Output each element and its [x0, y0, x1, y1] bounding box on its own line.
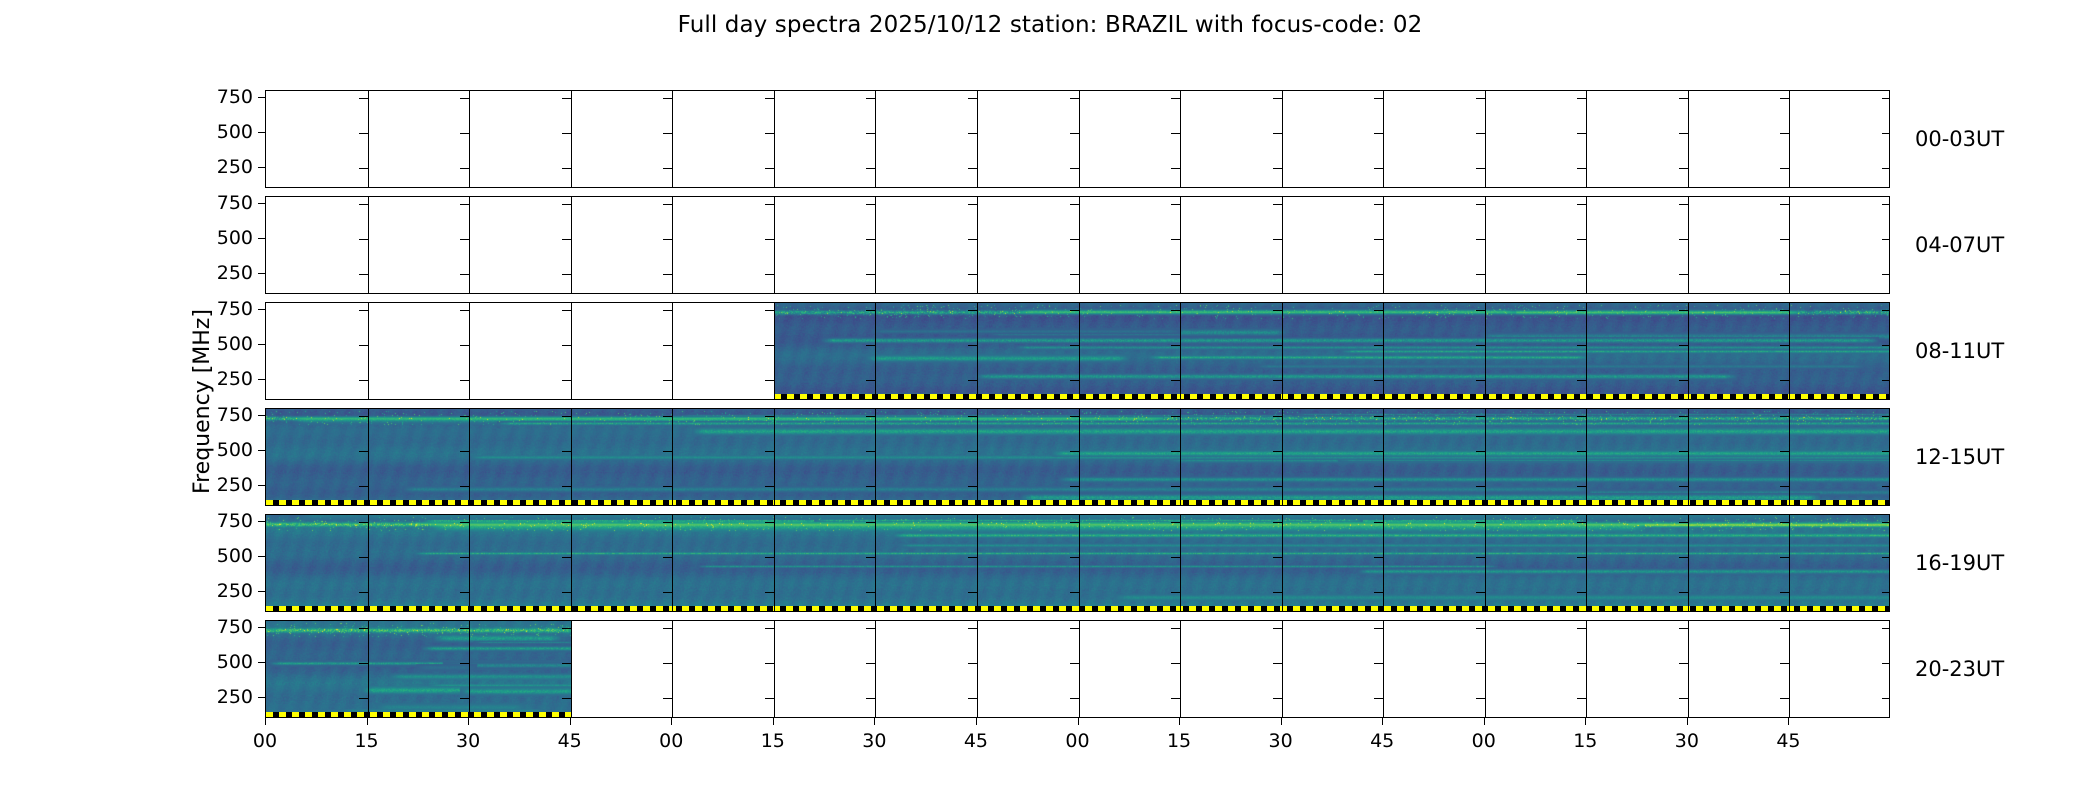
inner-y-tick: [460, 451, 469, 452]
inner-y-tick: [562, 557, 571, 558]
inner-y-tick: [460, 698, 469, 699]
inner-y-tick: [562, 628, 571, 629]
cell-separator: [571, 409, 572, 505]
inner-y-tick: [765, 274, 774, 275]
y-tick-mark: [258, 556, 265, 557]
inner-y-tick: [1780, 663, 1789, 664]
cell-separator: [1180, 303, 1181, 399]
inner-y-tick: [562, 310, 571, 311]
y-tick-mark: [258, 379, 265, 380]
y-tick-label: 250: [183, 158, 253, 177]
cell-separator: [1383, 515, 1384, 611]
inner-y-tick: [1273, 557, 1282, 558]
inner-y-tick: [359, 522, 368, 523]
inner-y-tick: [1171, 416, 1180, 417]
inner-y-tick: [1780, 133, 1789, 134]
inner-y-tick: [968, 380, 977, 381]
inner-y-tick: [460, 345, 469, 346]
inner-y-tick: [1171, 698, 1180, 699]
inner-y-tick: [460, 239, 469, 240]
inner-y-tick: [968, 557, 977, 558]
inner-y-tick: [460, 592, 469, 593]
cell-separator: [368, 197, 369, 293]
cell-separator: [1282, 303, 1283, 399]
inner-y-tick: [663, 98, 672, 99]
inner-y-tick: [460, 557, 469, 558]
inner-y-tick: [1577, 451, 1586, 452]
spectrogram-image: [266, 621, 571, 718]
cell-separator: [1688, 515, 1689, 611]
inner-y-tick: [1374, 98, 1383, 99]
inner-y-tick: [663, 345, 672, 346]
inner-y-tick: [460, 133, 469, 134]
cell-separator: [672, 303, 673, 399]
cell-separator: [1079, 409, 1080, 505]
inner-y-tick: [968, 274, 977, 275]
inner-y-tick: [765, 133, 774, 134]
inner-y-tick: [1374, 239, 1383, 240]
x-tick-mark: [1585, 718, 1586, 725]
cell-separator: [875, 91, 876, 187]
inner-y-tick: [562, 133, 571, 134]
inner-y-tick: [1679, 274, 1688, 275]
inner-y-tick: [866, 133, 875, 134]
spectrogram-image: [266, 515, 1890, 612]
inner-y-tick: [1882, 557, 1890, 558]
inner-y-tick: [1780, 345, 1789, 346]
x-tick-mark: [976, 718, 977, 725]
cell-separator: [672, 91, 673, 187]
cell-separator: [571, 515, 572, 611]
inner-y-tick: [1577, 168, 1586, 169]
inner-y-tick: [663, 133, 672, 134]
inner-y-tick: [1577, 380, 1586, 381]
cell-separator: [1079, 197, 1080, 293]
cell-separator: [1383, 197, 1384, 293]
inner-y-tick: [1374, 698, 1383, 699]
subplot-row-08-11ut: [265, 302, 1890, 400]
inner-y-tick: [562, 698, 571, 699]
inner-y-tick: [1070, 204, 1079, 205]
inner-y-tick: [1171, 345, 1180, 346]
cell-separator: [875, 621, 876, 717]
inner-y-tick: [1679, 628, 1688, 629]
inner-y-tick: [1577, 310, 1586, 311]
inner-y-tick: [866, 416, 875, 417]
inner-y-tick: [765, 451, 774, 452]
inner-y-tick: [1780, 522, 1789, 523]
inner-y-tick: [1679, 486, 1688, 487]
inner-y-tick: [562, 168, 571, 169]
subplot-frame: [265, 408, 1890, 506]
inner-y-tick: [359, 451, 368, 452]
inner-y-tick: [1476, 628, 1485, 629]
y-tick-mark: [258, 97, 265, 98]
cell-separator: [571, 91, 572, 187]
inner-y-tick: [968, 698, 977, 699]
x-tick-label: 15: [1149, 730, 1209, 752]
inner-y-tick: [1780, 98, 1789, 99]
inner-y-tick: [1476, 416, 1485, 417]
inner-y-tick: [460, 522, 469, 523]
x-tick-label: 00: [1454, 730, 1514, 752]
inner-y-tick: [968, 239, 977, 240]
x-tick-mark: [874, 718, 875, 725]
inner-y-tick: [968, 663, 977, 664]
inner-y-tick: [1577, 204, 1586, 205]
cell-separator: [1485, 621, 1486, 717]
inner-y-tick: [1374, 133, 1383, 134]
inner-y-tick: [1882, 380, 1890, 381]
x-tick-label: 30: [438, 730, 498, 752]
subplot-row-16-19ut: [265, 514, 1890, 612]
subplot-row-12-15ut: [265, 408, 1890, 506]
inner-y-tick: [1273, 204, 1282, 205]
inner-y-tick: [765, 486, 774, 487]
data-coverage-marker: [266, 712, 571, 717]
inner-y-tick: [663, 274, 672, 275]
cell-separator: [1789, 91, 1790, 187]
inner-y-tick: [1476, 168, 1485, 169]
x-tick-mark: [671, 718, 672, 725]
inner-y-tick: [1476, 522, 1485, 523]
x-tick-label: 45: [946, 730, 1006, 752]
inner-y-tick: [359, 168, 368, 169]
inner-y-tick: [1476, 451, 1485, 452]
inner-y-tick: [765, 628, 774, 629]
y-tick-label: 250: [183, 370, 253, 389]
inner-y-tick: [968, 451, 977, 452]
x-tick-mark: [1687, 718, 1688, 725]
inner-y-tick: [1070, 310, 1079, 311]
inner-y-tick: [1577, 663, 1586, 664]
inner-y-tick: [1679, 204, 1688, 205]
inner-y-tick: [1374, 204, 1383, 205]
inner-y-tick: [1882, 98, 1890, 99]
inner-y-tick: [1882, 698, 1890, 699]
inner-y-tick: [1780, 168, 1789, 169]
cell-separator: [1282, 515, 1283, 611]
inner-y-tick: [1577, 522, 1586, 523]
inner-y-tick: [1679, 522, 1688, 523]
inner-y-tick: [1882, 522, 1890, 523]
inner-y-tick: [1273, 451, 1282, 452]
inner-y-tick: [1374, 274, 1383, 275]
inner-y-tick: [1476, 133, 1485, 134]
inner-y-tick: [1577, 239, 1586, 240]
y-tick-mark: [258, 521, 265, 522]
inner-y-tick: [765, 310, 774, 311]
inner-y-tick: [765, 592, 774, 593]
cell-separator: [1789, 197, 1790, 293]
cell-separator: [672, 197, 673, 293]
inner-y-tick: [359, 486, 368, 487]
cell-separator: [774, 621, 775, 717]
inner-y-tick: [866, 274, 875, 275]
x-tick-mark: [1788, 718, 1789, 725]
y-tick-label: 500: [183, 335, 253, 354]
inner-y-tick: [1374, 310, 1383, 311]
inner-y-tick: [968, 204, 977, 205]
y-tick-label: 750: [183, 618, 253, 637]
cell-separator: [977, 91, 978, 187]
inner-y-tick: [1273, 628, 1282, 629]
x-tick-label: 30: [844, 730, 904, 752]
cell-separator: [1688, 303, 1689, 399]
inner-y-tick: [866, 451, 875, 452]
inner-y-tick: [562, 663, 571, 664]
inner-y-tick: [1273, 522, 1282, 523]
inner-y-tick: [968, 522, 977, 523]
inner-y-tick: [1882, 239, 1890, 240]
subplot-frame: [265, 302, 1890, 400]
x-tick-mark: [773, 718, 774, 725]
cell-separator: [977, 197, 978, 293]
x-tick-mark: [1179, 718, 1180, 725]
x-tick-label: 00: [641, 730, 701, 752]
inner-y-tick: [1679, 345, 1688, 346]
inner-y-tick: [663, 451, 672, 452]
inner-y-tick: [866, 380, 875, 381]
inner-y-tick: [1882, 345, 1890, 346]
cell-separator: [469, 91, 470, 187]
x-tick-mark: [1281, 718, 1282, 725]
inner-y-tick: [866, 345, 875, 346]
inner-y-tick: [765, 416, 774, 417]
cell-separator: [1180, 409, 1181, 505]
cell-separator: [368, 91, 369, 187]
inner-y-tick: [1882, 663, 1890, 664]
subplot-frame: [265, 620, 1890, 718]
cell-separator: [1789, 515, 1790, 611]
cell-separator: [875, 197, 876, 293]
data-coverage-marker: [774, 394, 1890, 399]
y-tick-mark: [258, 167, 265, 168]
inner-y-tick: [1679, 239, 1688, 240]
inner-y-tick: [765, 98, 774, 99]
y-tick-label: 750: [183, 300, 253, 319]
x-tick-label: 00: [1048, 730, 1108, 752]
inner-y-tick: [1070, 557, 1079, 558]
y-tick-mark: [258, 662, 265, 663]
inner-y-tick: [1679, 416, 1688, 417]
cell-separator: [1789, 621, 1790, 717]
inner-y-tick: [765, 345, 774, 346]
inner-y-tick: [1882, 592, 1890, 593]
inner-y-tick: [460, 204, 469, 205]
inner-y-tick: [460, 168, 469, 169]
y-tick-label: 500: [183, 123, 253, 142]
inner-y-tick: [1171, 204, 1180, 205]
inner-y-tick: [359, 345, 368, 346]
y-tick-label: 750: [183, 88, 253, 107]
x-tick-label: 45: [1352, 730, 1412, 752]
y-tick-mark: [258, 273, 265, 274]
cell-separator: [875, 515, 876, 611]
inner-y-tick: [1171, 557, 1180, 558]
inner-y-tick: [562, 239, 571, 240]
inner-y-tick: [1679, 592, 1688, 593]
inner-y-tick: [1070, 522, 1079, 523]
inner-y-tick: [765, 204, 774, 205]
y-tick-label: 500: [183, 653, 253, 672]
y-tick-mark: [258, 591, 265, 592]
inner-y-tick: [765, 698, 774, 699]
cell-separator: [977, 515, 978, 611]
cell-separator: [1789, 303, 1790, 399]
y-tick-label: 500: [183, 441, 253, 460]
inner-y-tick: [1070, 168, 1079, 169]
inner-y-tick: [663, 698, 672, 699]
inner-y-tick: [866, 522, 875, 523]
inner-y-tick: [1577, 274, 1586, 275]
inner-y-tick: [866, 239, 875, 240]
inner-y-tick: [1374, 663, 1383, 664]
inner-y-tick: [359, 133, 368, 134]
inner-y-tick: [1273, 698, 1282, 699]
y-tick-mark: [258, 238, 265, 239]
inner-y-tick: [1780, 451, 1789, 452]
y-tick-mark: [258, 309, 265, 310]
inner-y-tick: [1070, 274, 1079, 275]
cell-separator: [1079, 303, 1080, 399]
inner-y-tick: [1273, 345, 1282, 346]
inner-y-tick: [460, 310, 469, 311]
cell-separator: [469, 197, 470, 293]
cell-separator: [571, 303, 572, 399]
inner-y-tick: [1476, 98, 1485, 99]
inner-y-tick: [968, 345, 977, 346]
inner-y-tick: [1882, 133, 1890, 134]
inner-y-tick: [1577, 345, 1586, 346]
inner-y-tick: [1577, 486, 1586, 487]
y-tick-mark: [258, 627, 265, 628]
inner-y-tick: [1273, 663, 1282, 664]
inner-y-tick: [359, 204, 368, 205]
inner-y-tick: [1070, 98, 1079, 99]
inner-y-tick: [359, 557, 368, 558]
inner-y-tick: [1070, 239, 1079, 240]
cell-separator: [1586, 409, 1587, 505]
inner-y-tick: [1171, 451, 1180, 452]
inner-y-tick: [866, 592, 875, 593]
inner-y-tick: [968, 133, 977, 134]
cell-separator: [1180, 91, 1181, 187]
inner-y-tick: [359, 416, 368, 417]
inner-y-tick: [1374, 522, 1383, 523]
y-tick-mark: [258, 697, 265, 698]
cell-separator: [672, 515, 673, 611]
inner-y-tick: [663, 557, 672, 558]
cell-separator: [1688, 91, 1689, 187]
inner-y-tick: [359, 310, 368, 311]
inner-y-tick: [765, 663, 774, 664]
inner-y-tick: [1679, 380, 1688, 381]
inner-y-tick: [765, 239, 774, 240]
inner-y-tick: [1374, 380, 1383, 381]
inner-y-tick: [460, 663, 469, 664]
cell-separator: [1586, 303, 1587, 399]
inner-y-tick: [1780, 310, 1789, 311]
x-tick-label: 15: [337, 730, 397, 752]
row-label-00-03ut: 00-03UT: [1915, 127, 2004, 151]
inner-y-tick: [562, 416, 571, 417]
inner-y-tick: [663, 522, 672, 523]
cell-separator: [469, 515, 470, 611]
inner-y-tick: [1882, 628, 1890, 629]
cell-separator: [1079, 91, 1080, 187]
cell-separator: [774, 197, 775, 293]
subplot-frame: [265, 514, 1890, 612]
inner-y-tick: [562, 486, 571, 487]
inner-y-tick: [1070, 486, 1079, 487]
inner-y-tick: [460, 486, 469, 487]
cell-separator: [774, 303, 775, 399]
inner-y-tick: [1679, 98, 1688, 99]
cell-separator: [1383, 409, 1384, 505]
inner-y-tick: [1476, 204, 1485, 205]
inner-y-tick: [1171, 274, 1180, 275]
inner-y-tick: [663, 592, 672, 593]
row-label-04-07ut: 04-07UT: [1915, 233, 2004, 257]
cell-separator: [469, 303, 470, 399]
cell-separator: [469, 621, 470, 717]
inner-y-tick: [1070, 416, 1079, 417]
inner-y-tick: [359, 698, 368, 699]
subplot-frame: [265, 90, 1890, 188]
inner-y-tick: [1374, 557, 1383, 558]
inner-y-tick: [1882, 168, 1890, 169]
y-tick-mark: [258, 485, 265, 486]
inner-y-tick: [663, 310, 672, 311]
cell-separator: [1688, 197, 1689, 293]
x-tick-label: 15: [1555, 730, 1615, 752]
inner-y-tick: [663, 239, 672, 240]
inner-y-tick: [1679, 698, 1688, 699]
y-tick-label: 250: [183, 582, 253, 601]
inner-y-tick: [765, 522, 774, 523]
spectrogram-image: [774, 303, 1890, 400]
inner-y-tick: [1780, 628, 1789, 629]
inner-y-tick: [1273, 98, 1282, 99]
y-tick-label: 250: [183, 688, 253, 707]
inner-y-tick: [1273, 310, 1282, 311]
inner-y-tick: [866, 204, 875, 205]
inner-y-tick: [663, 416, 672, 417]
cell-separator: [672, 621, 673, 717]
cell-separator: [1688, 621, 1689, 717]
cell-separator: [875, 303, 876, 399]
cell-separator: [571, 197, 572, 293]
cell-separator: [368, 621, 369, 717]
inner-y-tick: [1171, 628, 1180, 629]
cell-separator: [977, 621, 978, 717]
figure-title: Full day spectra 2025/10/12 station: BRA…: [0, 12, 2100, 38]
data-coverage-marker: [266, 500, 1890, 505]
inner-y-tick: [1679, 168, 1688, 169]
inner-y-tick: [460, 416, 469, 417]
cell-separator: [1180, 621, 1181, 717]
inner-y-tick: [1273, 133, 1282, 134]
cell-separator: [1485, 91, 1486, 187]
cell-separator: [1688, 409, 1689, 505]
inner-y-tick: [1780, 204, 1789, 205]
inner-y-tick: [1577, 416, 1586, 417]
inner-y-tick: [1171, 663, 1180, 664]
x-tick-label: 30: [1251, 730, 1311, 752]
inner-y-tick: [562, 522, 571, 523]
row-label-12-15ut: 12-15UT: [1915, 445, 2004, 469]
